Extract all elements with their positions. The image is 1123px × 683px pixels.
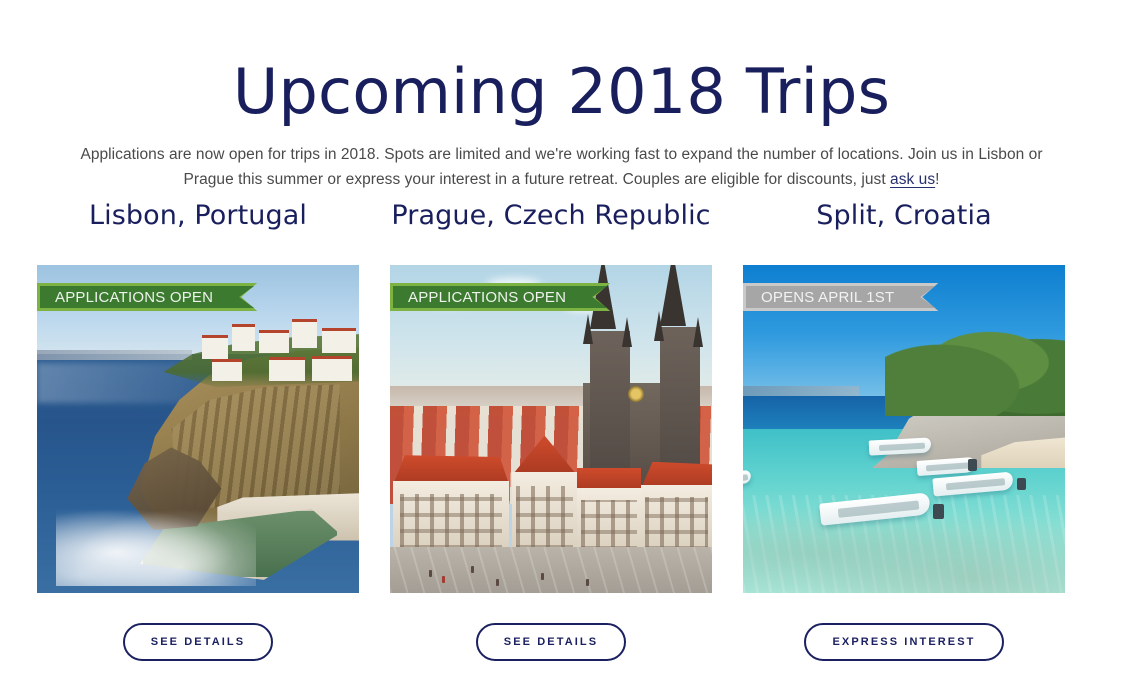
see-details-button-prague[interactable]: SEE DETAILS [476, 623, 626, 661]
ribbon-label: OPENS APRIL 1ST [761, 289, 894, 306]
church-spirelet [654, 311, 664, 341]
trip-ribbon-lisbon: APPLICATIONS OPEN [37, 283, 257, 311]
trips-page: Upcoming 2018 Trips Applications are now… [0, 0, 1123, 683]
outboard-motor [1017, 478, 1026, 490]
breaking-surf [56, 501, 256, 586]
trip-title-lisbon: Lisbon, Portugal [89, 196, 307, 236]
church-spirelet [622, 317, 632, 347]
pedestrian [471, 566, 474, 573]
trip-photo-prague[interactable]: APPLICATIONS OPEN [390, 265, 712, 593]
trip-photo-lisbon[interactable]: APPLICATIONS OPEN [37, 265, 359, 593]
hilltop-village [192, 311, 359, 403]
boat [868, 437, 931, 455]
split-photo-scene [743, 265, 1065, 593]
trip-photo-split[interactable]: OPENS APRIL 1ST [743, 265, 1065, 593]
ribbon-label: APPLICATIONS OPEN [408, 289, 566, 306]
intro-text-after-link: ! [935, 171, 939, 188]
building-facade [393, 481, 509, 553]
ask-us-link[interactable]: ask us [890, 171, 935, 188]
ribbon-label: APPLICATIONS OPEN [55, 289, 213, 306]
building-facade [641, 485, 712, 554]
see-details-button-lisbon[interactable]: SEE DETAILS [123, 623, 273, 661]
distant-coastline [37, 350, 192, 360]
trip-card-prague: Prague, Czech Republic [390, 196, 712, 661]
intro-paragraph: Applications are now open for trips in 2… [62, 142, 1062, 192]
building-facade [512, 472, 576, 554]
trip-ribbon-split: OPENS APRIL 1ST [743, 283, 938, 311]
church-spirelet [583, 314, 593, 344]
pedestrian [442, 576, 445, 583]
building-facade [577, 488, 641, 554]
church-spire-right [660, 265, 686, 326]
church-spirelet [693, 317, 703, 347]
trip-card-lisbon: Lisbon, Portugal [37, 196, 359, 661]
prague-photo-scene [390, 265, 712, 593]
old-town-square [390, 547, 712, 593]
pedestrian [496, 579, 499, 586]
outboard-motor [933, 504, 944, 519]
page-title: Upcoming 2018 Trips [0, 48, 1123, 136]
pine-trees [885, 317, 1065, 415]
trip-ribbon-prague: APPLICATIONS OPEN [390, 283, 610, 311]
trip-title-prague: Prague, Czech Republic [391, 196, 710, 236]
trip-card-split: Split, Croatia [743, 196, 1065, 661]
distant-island [743, 386, 859, 396]
roof [393, 455, 509, 485]
lisbon-photo-scene [37, 265, 359, 593]
trip-card-grid: Lisbon, Portugal [37, 196, 1065, 661]
outboard-motor [968, 459, 977, 471]
pedestrian [541, 573, 544, 580]
express-interest-button-split[interactable]: EXPRESS INTEREST [804, 623, 1003, 661]
trip-title-split: Split, Croatia [816, 196, 992, 236]
pedestrian [429, 570, 432, 577]
